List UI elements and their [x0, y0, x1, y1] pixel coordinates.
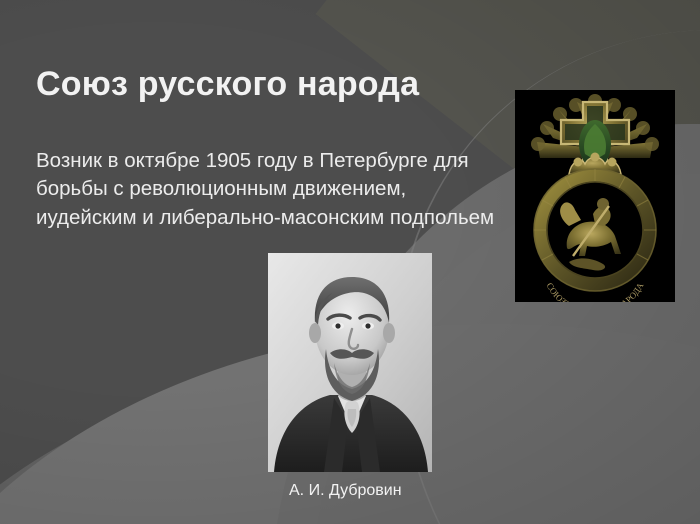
portrait-image	[268, 253, 432, 472]
slide-body-text: Возник в октябре 1905 году в Петербурге …	[36, 147, 506, 233]
badge-illustration: СОЮЗЪ РУССКАГО НАРОДА	[515, 90, 675, 302]
badge-image: СОЮЗЪ РУССКАГО НАРОДА	[515, 90, 675, 302]
slide-title: Союз русского народа	[36, 64, 419, 104]
presentation-slide: Союз русского народа Возник в октябре 19…	[0, 0, 700, 524]
portrait-caption: А. И. Дубровин	[289, 481, 402, 501]
portrait-illustration	[268, 253, 432, 472]
